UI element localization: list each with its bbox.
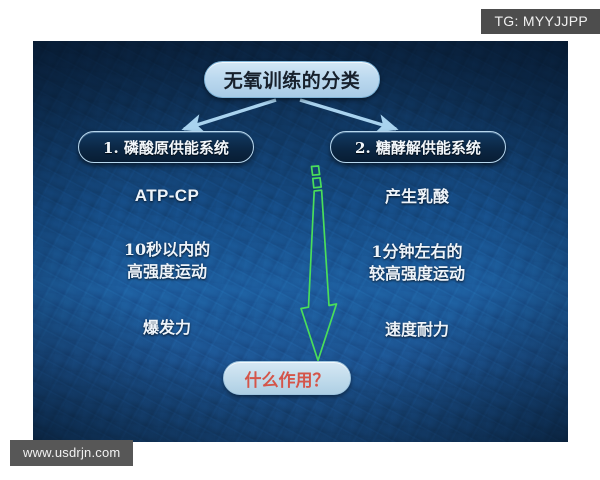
branch-box-glycolytic: 2. 糖酵解供能系统 (330, 131, 506, 163)
watermark-bottom-left: www.usdrjn.com (10, 440, 133, 466)
diagram-title-pill: 无氧训练的分类 (204, 61, 380, 98)
phosphagen-quality: 爆发力 (72, 317, 262, 339)
branch-label-phosphagen: 1. 磷酸原供能系统 (103, 137, 229, 158)
phosphagen-duration-line1: 10秒以内的 (72, 239, 262, 261)
column-phosphagen: ATP-CP 10秒以内的 高强度运动 爆发力 (72, 186, 262, 339)
phosphagen-duration: 10秒以内的 高强度运动 (72, 239, 262, 283)
question-text: 什么作用？ (245, 366, 330, 391)
branch-box-phosphagen: 1. 磷酸原供能系统 (78, 131, 254, 163)
branch-label-glycolytic: 2. 糖酵解供能系统 (355, 137, 481, 158)
green-down-arrow-icon (280, 164, 360, 369)
question-pill: 什么作用？ (223, 361, 351, 395)
watermark-top-right: TG: MYYJJPP (481, 9, 600, 34)
phosphagen-energy-source: ATP-CP (72, 186, 262, 206)
diagram-title-text: 无氧训练的分类 (224, 66, 361, 93)
phosphagen-duration-line2: 高强度运动 (72, 261, 262, 283)
